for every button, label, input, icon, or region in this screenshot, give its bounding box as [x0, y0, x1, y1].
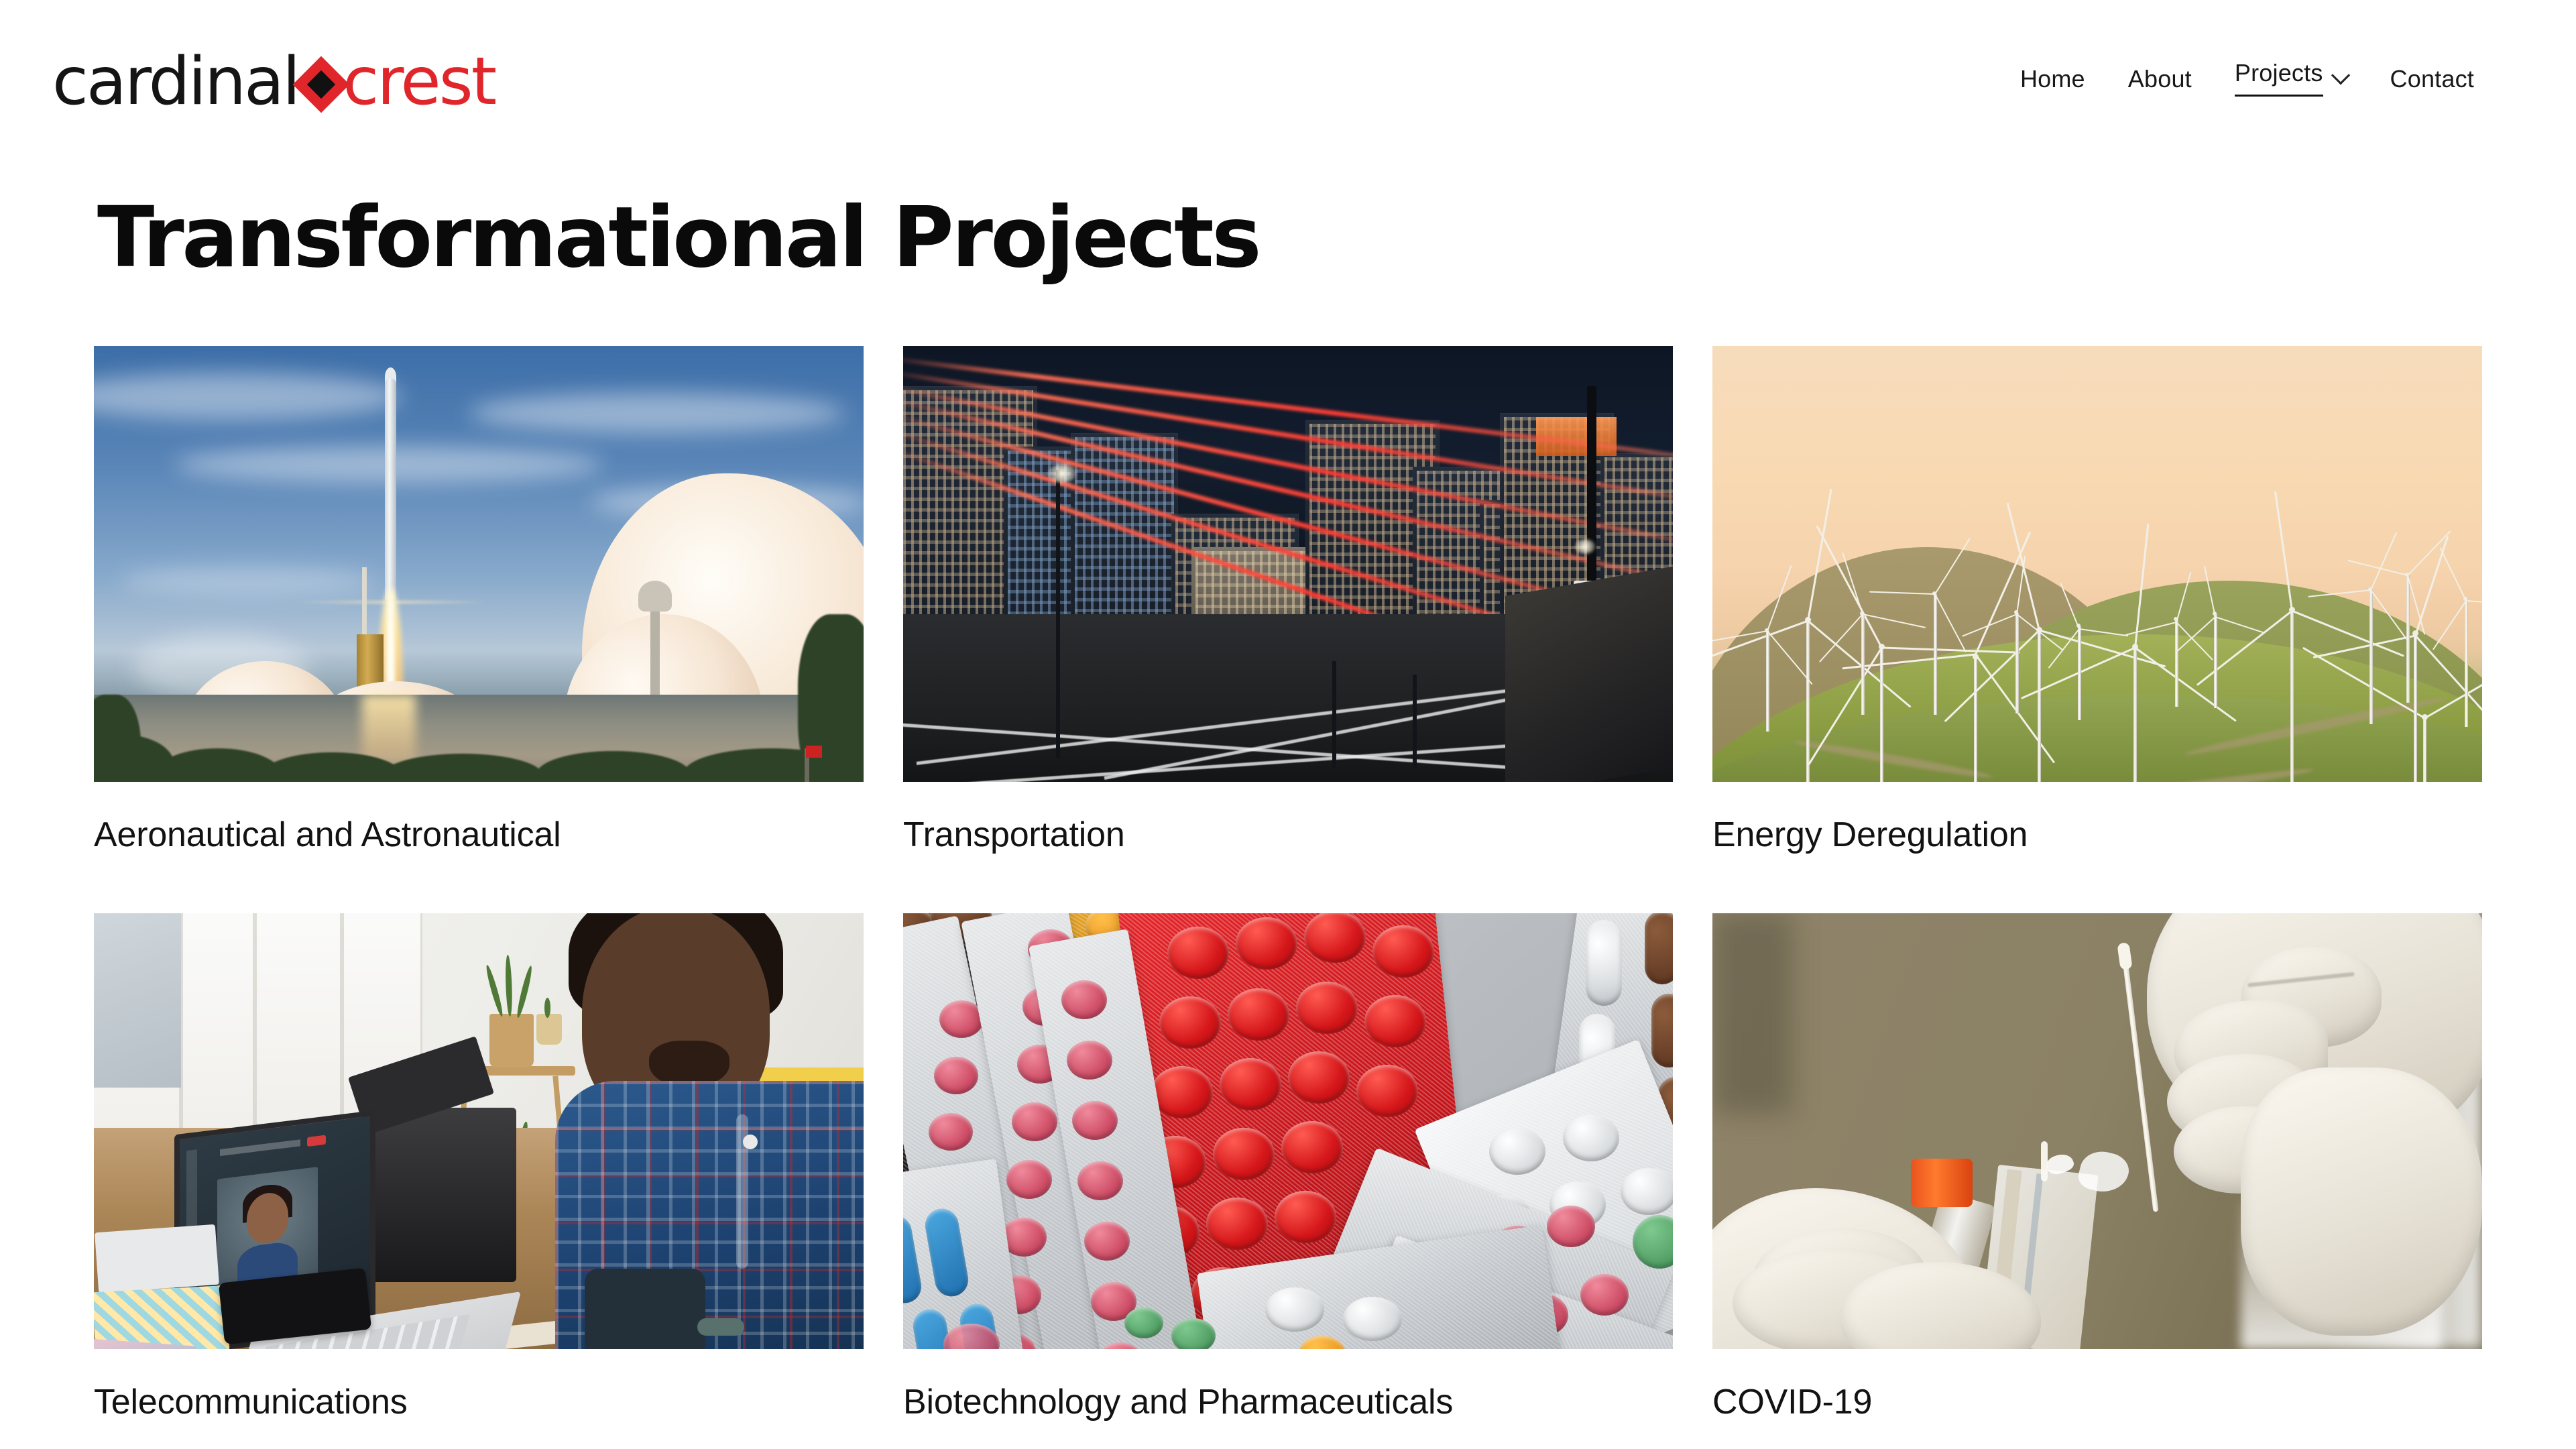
nav-label-home: Home — [2020, 67, 2085, 91]
diamond-icon — [301, 64, 341, 105]
project-card-aeronautical[interactable]: Aeronautical and Astronautical — [94, 346, 864, 856]
project-caption: Biotechnology and Pharmaceuticals — [903, 1383, 1673, 1423]
main-navigation: Home About Projects Contact — [2017, 57, 2477, 106]
projects-grid: Aeronautical and Astronautical — [94, 346, 2482, 1423]
nav-item-about[interactable]: About — [2125, 63, 2194, 101]
project-card-transportation[interactable]: Transportation — [903, 346, 1673, 856]
wind-turbines-sunset-photo[interactable] — [1712, 346, 2482, 782]
covid-swab-test-photo[interactable] — [1712, 913, 2482, 1349]
brand-name-second: crest — [343, 49, 495, 115]
project-caption: Aeronautical and Astronautical — [94, 815, 864, 856]
project-caption: Transportation — [903, 815, 1673, 856]
project-card-energy[interactable]: Energy Deregulation — [1712, 346, 2482, 856]
city-night-light-trails-photo[interactable] — [903, 346, 1673, 782]
project-card-covid19[interactable]: COVID-19 — [1712, 913, 2482, 1423]
grid-row-spacer — [94, 856, 2482, 913]
nav-item-home[interactable]: Home — [2017, 63, 2088, 101]
nav-item-contact[interactable]: Contact — [2388, 63, 2477, 101]
project-caption: Telecommunications — [94, 1383, 864, 1423]
pill-blister-packs-photo[interactable] — [903, 913, 1673, 1349]
rocket-launch-photo[interactable] — [94, 346, 864, 782]
site-header: cardinal crest Home About Projects Conta… — [0, 0, 2576, 163]
page-title: Transformational Projects — [97, 194, 2576, 282]
nav-label-about: About — [2128, 67, 2192, 91]
man-on-video-call-photo[interactable] — [94, 913, 864, 1349]
project-caption: COVID-19 — [1712, 1383, 2482, 1423]
brand-name-first: cardinal — [52, 49, 298, 115]
nav-item-projects[interactable]: Projects — [2232, 57, 2350, 106]
nav-label-projects: Projects — [2235, 61, 2323, 97]
project-card-biotechnology[interactable]: Biotechnology and Pharmaceuticals — [903, 913, 1673, 1423]
project-card-telecommunications[interactable]: Telecommunications — [94, 913, 864, 1423]
project-caption: Energy Deregulation — [1712, 815, 2482, 856]
chevron-down-icon[interactable] — [2331, 66, 2349, 84]
brand-logo[interactable]: cardinal crest — [52, 49, 495, 115]
nav-label-contact: Contact — [2390, 67, 2474, 91]
